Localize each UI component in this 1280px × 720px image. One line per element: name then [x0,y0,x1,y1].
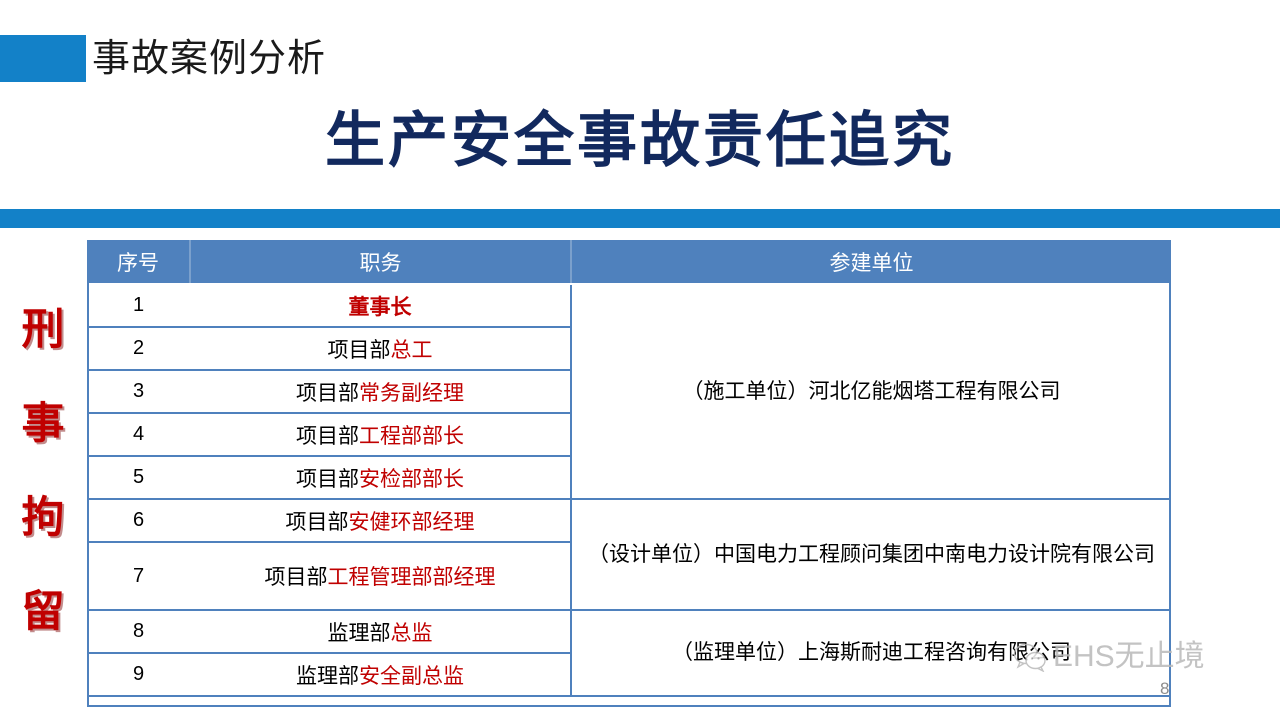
wechat-bubble-icon [1013,642,1047,672]
table-row: 1 董事长 （施工单位）河北亿能烟塔工程有限公司 [87,284,1171,327]
table-row: 6 项目部安健环部经理 （设计单位）中国电力工程顾问集团中南电力设计院有限公司 [87,499,1171,542]
duty-highlight: 工程部部长 [359,425,464,448]
duty-highlight: 常务副经理 [359,382,464,405]
page-number: 8 [1160,679,1169,699]
duty-highlight: 安全副总监 [359,665,464,688]
duty-highlight: 总工 [391,339,433,362]
title-divider-bar [0,209,1280,228]
duty-prefix: 项目部 [296,468,359,491]
page-title: 生产安全事故责任追究 [0,104,1280,178]
row-no: 9 [87,653,190,696]
side-label-char-3: 拘 [12,471,74,565]
column-header-duty: 职务 [190,240,571,284]
side-label-criminal-detention: 刑 事 拘 留 [12,283,74,659]
side-label-char-1: 刑 [12,283,74,377]
column-header-unit: 参建单位 [571,240,1171,284]
row-no: 8 [87,610,190,653]
duty-highlight: 安健环部经理 [349,511,475,534]
side-label-char-2: 事 [12,377,74,471]
row-no: 4 [87,413,190,456]
side-label-char-4: 留 [12,565,74,659]
duty-prefix: 项目部 [286,511,349,534]
unit-design: （设计单位）中国电力工程顾问集团中南电力设计院有限公司 [571,499,1171,610]
duty-highlight: 安检部部长 [359,468,464,491]
watermark-text: EHS无止境 [1053,640,1205,674]
slide-canvas: 事故案例分析 生产安全事故责任追究 刑 事 拘 留 序号 职务 参建单位 1 董… [0,0,1280,720]
duty-prefix: 项目部 [296,425,359,448]
row-duty: 项目部工程管理部部经理 [190,542,571,610]
row-duty: 项目部常务副经理 [190,370,571,413]
row-no: 7 [87,542,190,610]
row-no: 2 [87,327,190,370]
row-no: 6 [87,499,190,542]
header-label: 事故案例分析 [92,36,326,82]
duty-prefix: 项目部 [296,382,359,405]
row-duty: 项目部工程部部长 [190,413,571,456]
row-no: 1 [87,284,190,327]
table-row: 8 监理部总监 （监理单位）上海斯耐迪工程咨询有限公司 [87,610,1171,653]
duty-prefix: 项目部 [265,566,328,589]
table-header-row: 序号 职务 参建单位 [87,240,1171,284]
row-duty: 董事长 [190,284,571,327]
row-no: 5 [87,456,190,499]
unit-construction: （施工单位）河北亿能烟塔工程有限公司 [571,284,1171,499]
watermark: EHS无止境 [1013,640,1205,674]
duty-prefix: 项目部 [328,339,391,362]
header-accent-square [0,35,86,82]
row-duty: 项目部安检部部长 [190,456,571,499]
duty-highlight: 工程管理部部经理 [328,566,496,589]
row-duty: 项目部总工 [190,327,571,370]
row-duty: 项目部安健环部经理 [190,499,571,542]
duty-prefix: 监理部 [328,622,391,645]
row-duty: 监理部安全副总监 [190,653,571,696]
duty-highlight: 总监 [391,622,433,645]
column-header-no: 序号 [87,240,190,284]
responsibility-table: 序号 职务 参建单位 1 董事长 （施工单位）河北亿能烟塔工程有限公司 2 项目… [87,240,1171,697]
duty-prefix: 监理部 [296,665,359,688]
row-duty: 监理部总监 [190,610,571,653]
duty-highlight: 董事长 [349,296,412,319]
row-no: 3 [87,370,190,413]
